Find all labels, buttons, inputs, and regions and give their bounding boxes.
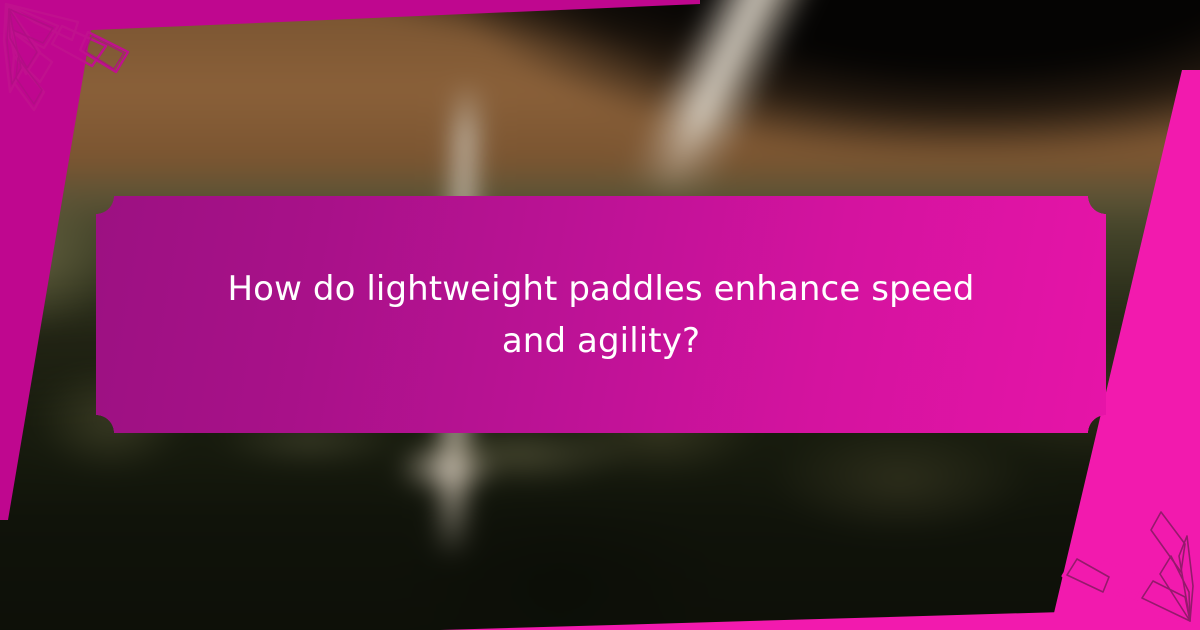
promo-card: How do lightweight paddles enhance speed… bbox=[0, 0, 1200, 630]
question-text: How do lightweight paddles enhance speed… bbox=[197, 263, 1005, 367]
question-banner: How do lightweight paddles enhance speed… bbox=[96, 196, 1106, 433]
